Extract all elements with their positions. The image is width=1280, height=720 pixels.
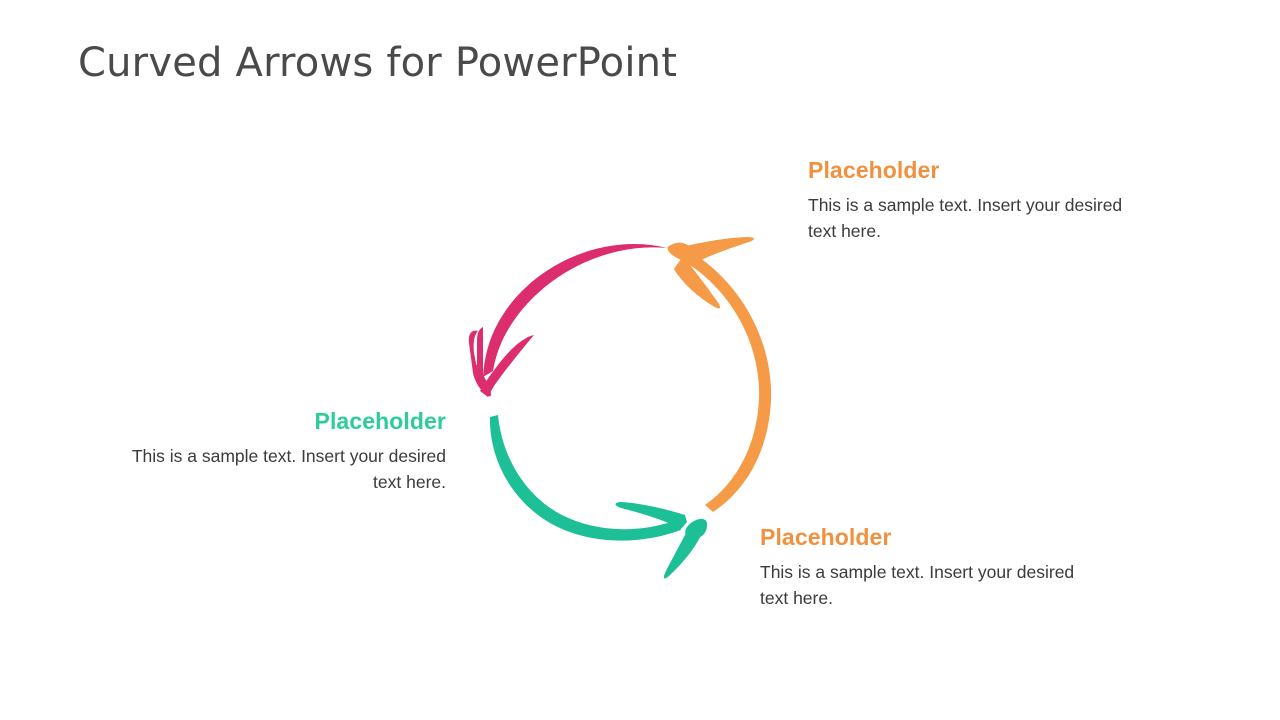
page-title: Curved Arrows for PowerPoint bbox=[78, 40, 677, 86]
text-block-bottom-right: Placeholder This is a sample text. Inser… bbox=[760, 525, 1090, 611]
placeholder-heading-bottom-right: Placeholder bbox=[760, 525, 1090, 550]
orange-curved-arrow bbox=[668, 237, 771, 512]
placeholder-heading-left: Placeholder bbox=[110, 409, 446, 434]
pink-curved-arrow bbox=[469, 244, 667, 397]
green-curved-arrow bbox=[490, 415, 707, 578]
placeholder-body-top-right: This is a sample text. Insert your desir… bbox=[808, 193, 1138, 244]
placeholder-heading-top-right: Placeholder bbox=[808, 158, 1138, 183]
slide-canvas: Curved Arrows for PowerPoint bbox=[0, 0, 1280, 720]
placeholder-body-bottom-right: This is a sample text. Insert your desir… bbox=[760, 560, 1090, 611]
text-block-top-right: Placeholder This is a sample text. Inser… bbox=[808, 158, 1138, 244]
placeholder-body-left: This is a sample text. Insert your desir… bbox=[110, 444, 446, 495]
text-block-left: Placeholder This is a sample text. Inser… bbox=[110, 409, 446, 495]
